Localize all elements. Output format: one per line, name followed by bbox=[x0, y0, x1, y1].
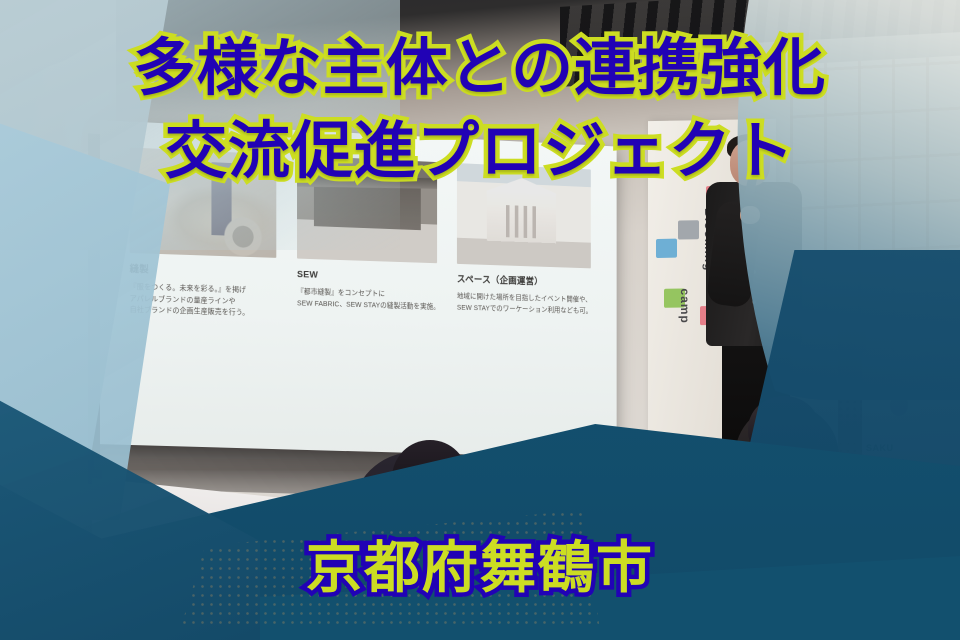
banner-word-camp: camp bbox=[678, 288, 692, 324]
signboard-dot bbox=[890, 394, 908, 416]
title-line-1: 多様な主体との連携強化 bbox=[0, 26, 960, 109]
title-text: 多様な主体との連携強化 交流促進プロジェクト bbox=[0, 26, 960, 192]
slide-column-body: 『服をつくる。未来を彩る。』を掲げ アパレルブランドの量産ラインや 自社ブランド… bbox=[130, 281, 277, 318]
slide-column-heading: SEW bbox=[297, 269, 437, 284]
slide-column-heading: スペース（企画運営） bbox=[457, 274, 591, 289]
slide-column-heading: 縫製 bbox=[130, 264, 277, 280]
title-line-2: 交流促進プロジェクト bbox=[0, 109, 960, 192]
audience-head bbox=[392, 440, 468, 516]
speaker-hand bbox=[740, 206, 760, 224]
slide-column-body: 地域に開けた場所を目指したイベント開催や、 SEW STAYでのワーケーション利… bbox=[457, 291, 591, 316]
signboard: SAKU bbox=[862, 352, 920, 467]
banner-square-blue bbox=[656, 239, 677, 258]
video-thumbnail-frame: SAKU Blooming camp bbox=[0, 0, 960, 640]
location-text: 京都府舞鶴市 bbox=[0, 523, 960, 604]
slide-column-body: 『都市縫製』をコンセプトに SEW FABRIC、SEW STAYの縫製活動を実… bbox=[297, 286, 437, 311]
signboard-caption: SAKU bbox=[866, 443, 894, 453]
audience-head bbox=[748, 396, 820, 462]
banner-square-gray bbox=[678, 220, 699, 239]
speaker-button bbox=[752, 300, 756, 304]
